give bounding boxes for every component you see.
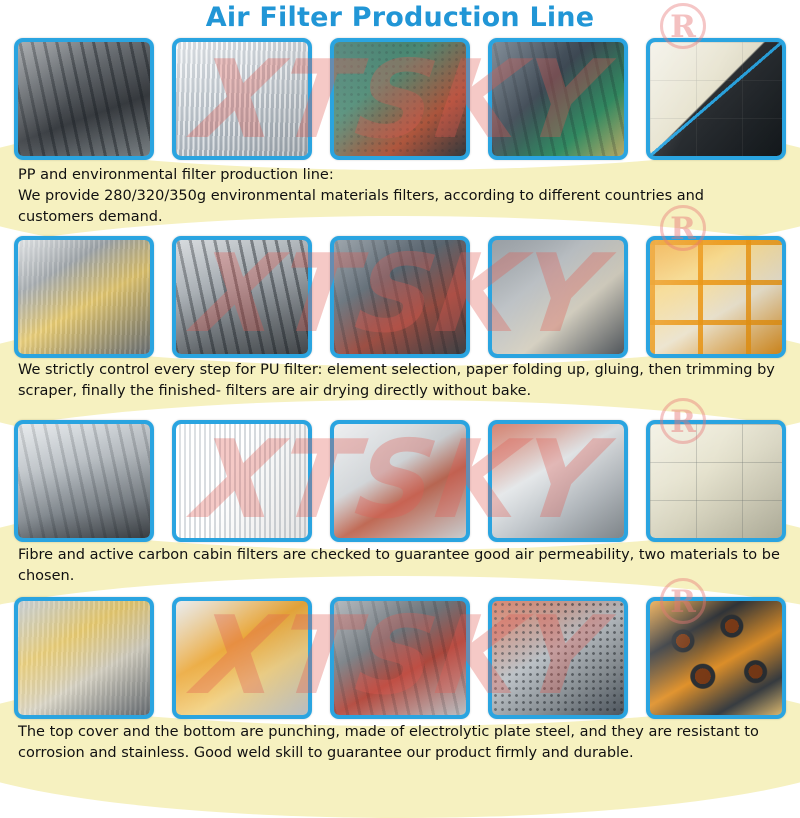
photo-thumbnail[interactable] — [14, 420, 154, 542]
caption-line: We provide 280/320/350g environmental ma… — [18, 186, 784, 228]
photo-row-pp-environmental — [14, 38, 786, 160]
caption-cabin-filter: Fibre and active carbon cabin filters ar… — [18, 545, 784, 587]
photo-thumbnail[interactable] — [172, 38, 312, 160]
photo-thumbnail[interactable] — [330, 420, 470, 542]
photo-thumbnail[interactable] — [330, 236, 470, 358]
photo-thumbnail[interactable] — [646, 420, 786, 542]
photo-thumbnail[interactable] — [330, 597, 470, 719]
caption-pp-environmental: PP and environmental filter production l… — [18, 165, 784, 228]
photo-thumbnail[interactable] — [646, 597, 786, 719]
photo-thumbnail[interactable] — [172, 597, 312, 719]
photo-row-pu-filter — [14, 236, 786, 358]
photo-thumbnail[interactable] — [14, 597, 154, 719]
caption-line: Fibre and active carbon cabin filters ar… — [18, 545, 784, 587]
photo-row-cabin-filter — [14, 420, 786, 542]
photo-thumbnail[interactable] — [172, 420, 312, 542]
photo-thumbnail[interactable] — [646, 236, 786, 358]
caption-top-cover: The top cover and the bottom are punchin… — [18, 722, 784, 764]
photo-thumbnail[interactable] — [488, 420, 628, 542]
photo-thumbnail[interactable] — [330, 38, 470, 160]
caption-line: We strictly control every step for PU fi… — [18, 360, 784, 402]
photo-thumbnail[interactable] — [646, 38, 786, 160]
photo-thumbnail[interactable] — [14, 236, 154, 358]
photo-thumbnail[interactable] — [488, 38, 628, 160]
caption-pu-filter: We strictly control every step for PU fi… — [18, 360, 784, 402]
page-title: Air Filter Production Line — [0, 2, 800, 33]
caption-line: The top cover and the bottom are punchin… — [18, 722, 784, 764]
photo-thumbnail[interactable] — [488, 597, 628, 719]
caption-line: PP and environmental filter production l… — [18, 165, 784, 186]
photo-thumbnail[interactable] — [172, 236, 312, 358]
photo-thumbnail[interactable] — [14, 38, 154, 160]
photo-row-top-cover — [14, 597, 786, 719]
photo-thumbnail[interactable] — [488, 236, 628, 358]
